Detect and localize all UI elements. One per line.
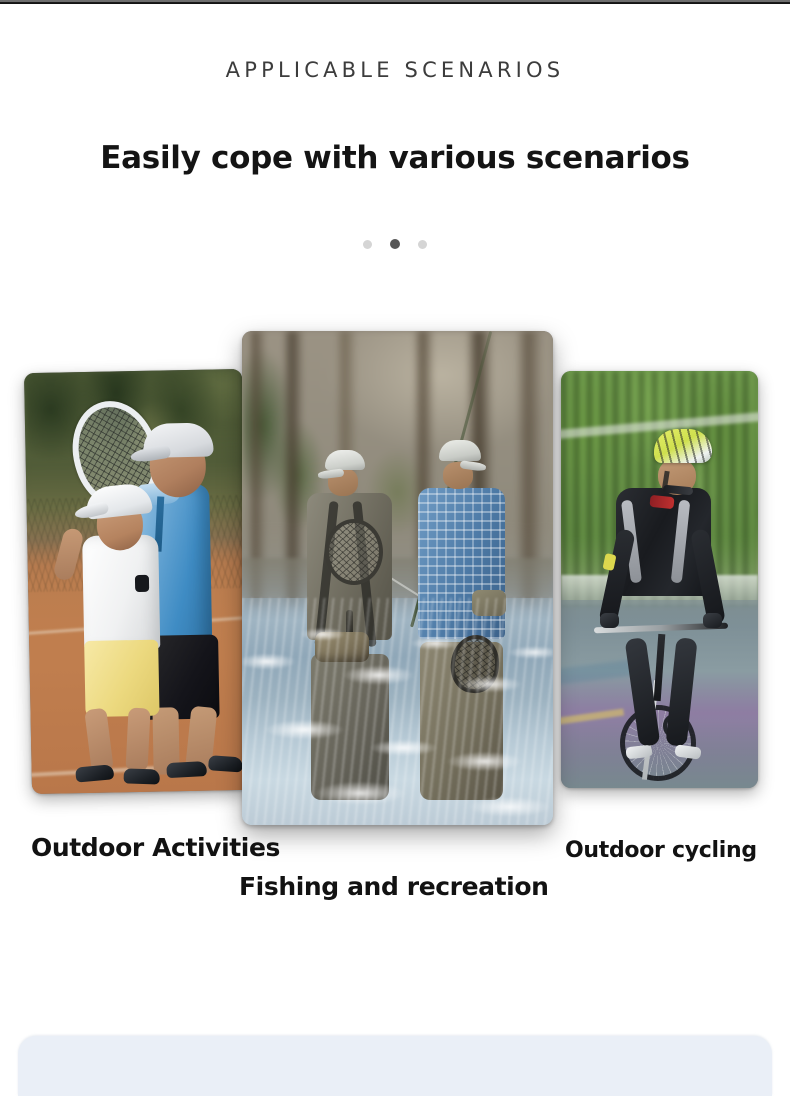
landing-net-icon [325, 519, 383, 585]
caption-outdoor-activities: Outdoor Activities [31, 833, 280, 862]
photo-tennis-coaching [24, 369, 250, 794]
next-section-panel [18, 1036, 772, 1096]
caption-outdoor-cycling: Outdoor cycling [565, 838, 757, 863]
scenario-card-fishing-and-recreation[interactable] [242, 331, 553, 825]
scenario-card-outdoor-cycling[interactable] [561, 371, 758, 788]
photo-river-fishing [242, 331, 553, 825]
scenario-card-outdoor-activities[interactable] [24, 369, 250, 794]
scenario-gallery [0, 0, 790, 1070]
caption-fishing-and-recreation: Fishing and recreation [239, 872, 549, 901]
photo-road-cycling [561, 371, 758, 788]
bicycle-helmet-icon [654, 429, 712, 463]
